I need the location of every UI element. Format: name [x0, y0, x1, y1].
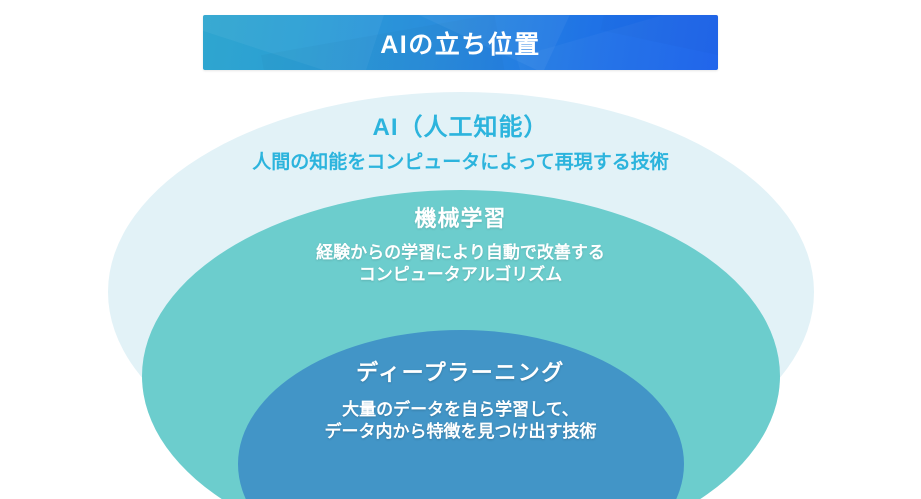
label-group-deep-learning: ディープラーニング 大量のデータを自ら学習して、 データ内から特徴を見つけ出す技…: [0, 358, 921, 444]
nested-ellipse-diagram: AI（人工知能） 人間の知能をコンピュータによって再現する技術 機械学習 経験か…: [0, 72, 921, 499]
label-machine-learning-subtitle: 経験からの学習により自動で改善する コンピュータアルゴリズム: [0, 242, 921, 287]
title-banner: AIの立ち位置: [203, 15, 718, 70]
label-ai-subtitle-line-1: 人間の知能をコンピュータによって再現する技術: [0, 150, 921, 175]
label-deep-learning-subtitle-line-2: データ内から特徴を見つけ出す技術: [0, 421, 921, 443]
label-group-machine-learning: 機械学習 経験からの学習により自動で改善する コンピュータアルゴリズム: [0, 204, 921, 287]
label-deep-learning-subtitle-line-1: 大量のデータを自ら学習して、: [0, 399, 921, 421]
label-ai-subtitle: 人間の知能をコンピュータによって再現する技術: [0, 150, 921, 175]
label-group-ai: AI（人工知能） 人間の知能をコンピュータによって再現する技術: [0, 112, 921, 175]
label-machine-learning-subtitle-line-1: 経験からの学習により自動で改善する: [0, 242, 921, 264]
label-deep-learning-title: ディープラーニング: [0, 358, 921, 387]
slide-canvas: AIの立ち位置 AI（人工知能） 人間の知能をコンピュータによって再現する技術 …: [0, 0, 921, 499]
label-machine-learning-subtitle-line-2: コンピュータアルゴリズム: [0, 264, 921, 286]
label-machine-learning-title: 機械学習: [0, 204, 921, 233]
page-title: AIの立ち位置: [380, 25, 541, 61]
label-ai-title: AI（人工知能）: [0, 112, 921, 144]
label-deep-learning-subtitle: 大量のデータを自ら学習して、 データ内から特徴を見つけ出す技術: [0, 399, 921, 444]
